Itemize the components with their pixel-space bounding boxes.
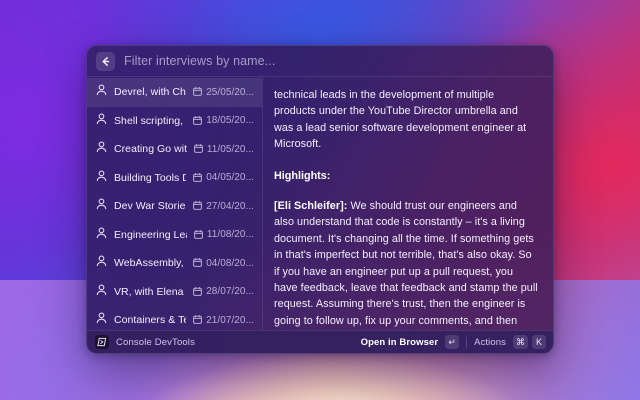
list-item[interactable]: Containers & Test... 21/07/20...	[87, 306, 262, 330]
list-item-date: 27/04/20...	[206, 201, 254, 212]
command-key-badge[interactable]: ⌘	[513, 335, 528, 349]
list-item-date: 04/08/20...	[206, 258, 254, 269]
list-item[interactable]: VR, with Elena K... 28/07/20...	[87, 278, 262, 307]
list-item[interactable]: Dev War Stories,... 27/04/20...	[87, 192, 262, 221]
list-item-title: VR, with Elena K...	[114, 286, 186, 298]
app-logo-icon	[95, 335, 109, 349]
list-item[interactable]: Creating Go with... 11/05/20...	[87, 135, 262, 164]
transcript-body: technical leads in the development of mu…	[263, 77, 553, 330]
brand-name: Console DevTools	[116, 337, 195, 348]
list-item[interactable]: Devrel, with Chri... 25/05/20...	[87, 78, 262, 107]
list-item-title: Engineering Lead...	[114, 229, 187, 241]
list-item-title: Shell scripting, wi...	[114, 115, 186, 127]
list-item-date: 18/05/20...	[206, 115, 254, 126]
interview-list[interactable]: Devrel, with Chri... 25/05/20...	[87, 77, 263, 330]
footer-divider	[466, 337, 467, 348]
window-body: Devrel, with Chri... 25/05/20...	[87, 77, 553, 330]
list-item-date-group: 11/08/20...	[194, 226, 254, 244]
list-item[interactable]: Building Tools D... 04/05/20...	[87, 164, 262, 193]
list-item-date-group: 21/07/20...	[193, 311, 254, 329]
quote-body: We should trust our engineers and also u…	[274, 200, 538, 330]
k-key-badge[interactable]: K	[532, 335, 546, 349]
calendar-icon	[193, 112, 202, 130]
search-input[interactable]	[124, 54, 544, 68]
list-item-date-group: 04/08/20...	[193, 254, 254, 272]
person-icon	[96, 311, 107, 329]
list-item-date-group: 28/07/20...	[193, 283, 254, 301]
list-item-date-group: 11/05/20...	[194, 140, 254, 158]
list-item-date: 28/07/20...	[206, 286, 254, 297]
list-item-date-group: 18/05/20...	[193, 112, 254, 130]
calendar-icon	[193, 169, 202, 187]
window-header	[87, 46, 553, 77]
quote-speaker: [Eli Schleifer]:	[274, 200, 347, 212]
list-item-date: 04/05/20...	[206, 172, 254, 183]
list-item-title: Creating Go with...	[114, 143, 187, 155]
person-icon	[96, 283, 107, 301]
person-icon	[96, 83, 107, 101]
calendar-icon	[193, 283, 202, 301]
list-item[interactable]: WebAssembly, w... 04/08/20...	[87, 249, 262, 278]
list-item-date: 21/07/20...	[206, 315, 254, 326]
list-item-date: 11/05/20...	[207, 144, 254, 155]
list-item-title: Containers & Test...	[114, 314, 186, 326]
open-in-browser-button[interactable]: Open in Browser	[361, 337, 439, 348]
list-item-title: Dev War Stories,...	[114, 200, 186, 212]
arrow-left-icon	[100, 56, 111, 67]
calendar-icon	[194, 226, 203, 244]
person-icon	[96, 254, 107, 272]
list-item-title: WebAssembly, w...	[114, 257, 186, 269]
back-button[interactable]	[96, 52, 115, 71]
calendar-icon	[193, 254, 202, 272]
list-item-date: 11/08/20...	[207, 229, 254, 240]
person-icon	[96, 226, 107, 244]
calendar-icon	[193, 197, 202, 215]
list-item[interactable]: Engineering Lead... 11/08/20...	[87, 221, 262, 250]
list-item[interactable]: Shell scripting, wi... 18/05/20...	[87, 107, 262, 136]
enter-key-badge[interactable]: ↵	[445, 335, 459, 349]
list-item-title: Devrel, with Chri...	[114, 86, 186, 98]
list-item-title: Building Tools D...	[114, 172, 186, 184]
window-footer: Console DevTools Open in Browser ↵ Actio…	[87, 330, 553, 353]
intro-paragraph: technical leads in the development of mu…	[274, 87, 539, 153]
person-icon	[96, 112, 107, 130]
calendar-icon	[193, 83, 202, 101]
actions-button[interactable]: Actions	[474, 337, 506, 348]
person-icon	[96, 140, 107, 158]
list-item-date-group: 25/05/20...	[193, 83, 254, 101]
list-item-date-group: 27/04/20...	[193, 197, 254, 215]
console-devtools-window: Devrel, with Chri... 25/05/20...	[86, 45, 554, 354]
transcript-panel[interactable]: technical leads in the development of mu…	[263, 77, 553, 330]
calendar-icon	[194, 140, 203, 158]
list-item-date-group: 04/05/20...	[193, 169, 254, 187]
quote-paragraph: [Eli Schleifer]: We should trust our eng…	[274, 198, 539, 330]
actions-shortcut: ⌘ K	[513, 335, 546, 349]
person-icon	[96, 169, 107, 187]
highlights-heading: Highlights:	[274, 168, 539, 184]
list-item-date: 25/05/20...	[206, 87, 254, 98]
calendar-icon	[193, 311, 202, 329]
person-icon	[96, 197, 107, 215]
